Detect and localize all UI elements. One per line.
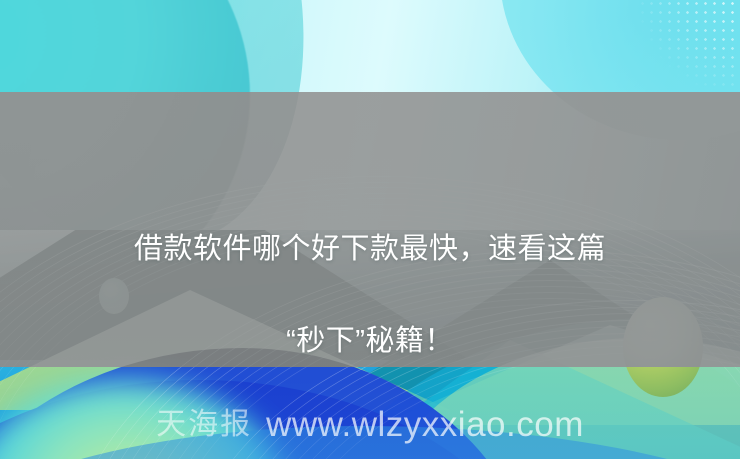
- poster-title-line-1: 借款软件哪个好下款最快，速看这篇: [0, 226, 740, 272]
- poster-title-line-2: “秒下”秘籍！: [0, 318, 740, 364]
- poster-canvas: 借款软件哪个好下款最快，速看这篇 “秒下”秘籍！ 天海报 www.wlzyxxi…: [0, 0, 740, 459]
- watermark: 天海报 www.wlzyxxiao.com: [0, 405, 740, 445]
- watermark-brand: 天海报: [156, 405, 252, 445]
- watermark-url: www.wlzyxxiao.com: [266, 405, 584, 445]
- poster-title: 借款软件哪个好下款最快，速看这篇 “秒下”秘籍！: [0, 180, 740, 410]
